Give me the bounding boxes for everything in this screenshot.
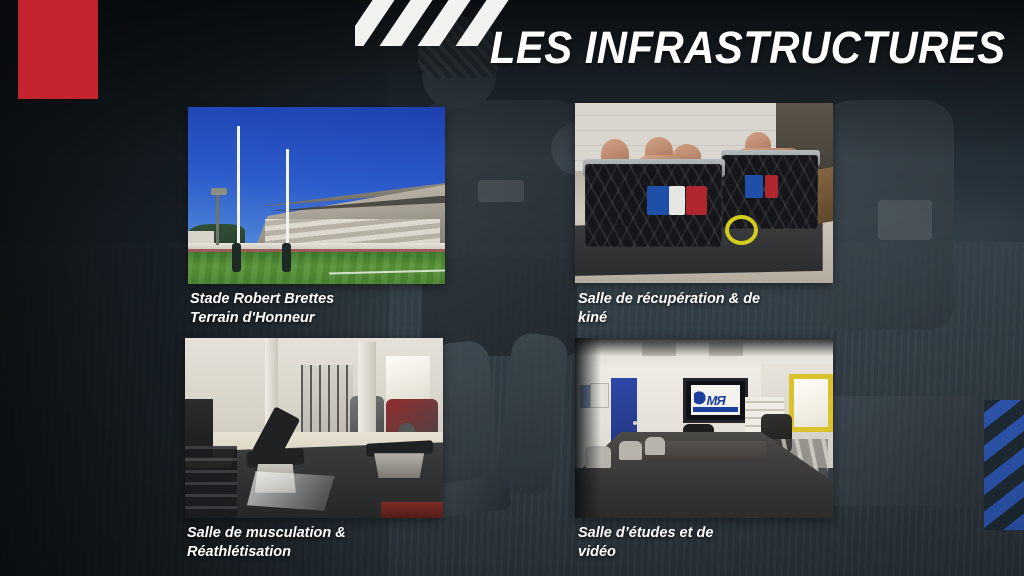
caption-line-2: vidéo: [578, 543, 793, 562]
caption-line-1: Salle de musculation &: [187, 524, 437, 543]
caption-video: Salle d’études et de vidéo: [578, 524, 793, 562]
card-gym: [185, 338, 443, 518]
video-room-photo: MЯ: [575, 338, 833, 518]
background-vignette: [0, 0, 1024, 576]
slide-title: LES INFRASTRUCTURES: [490, 22, 1006, 74]
caption-recovery: Salle de récupération & de kiné: [578, 290, 803, 328]
background-photo: [0, 0, 1024, 576]
club-logo: MЯ: [691, 385, 740, 415]
recovery-room-photo: [575, 103, 833, 283]
caption-line-1: Salle de récupération & de: [578, 290, 803, 309]
card-stadium: [188, 107, 445, 284]
card-recovery: [575, 103, 833, 283]
caption-line-2: Terrain d'Honneur: [190, 309, 440, 328]
weight-room-photo: [185, 338, 443, 518]
wall-screen: MЯ: [683, 378, 748, 423]
caption-line-1: Salle d’études et de: [578, 524, 793, 543]
card-video: MЯ: [575, 338, 833, 518]
caption-line-1: Stade Robert Brettes: [190, 290, 440, 309]
stadium-photo: [188, 107, 445, 284]
caption-stadium: Stade Robert Brettes Terrain d'Honneur: [190, 290, 440, 328]
caption-line-2: Réathlétisation: [187, 543, 437, 562]
caption-gym: Salle de musculation & Réathlétisation: [187, 524, 437, 562]
red-accent-block: [18, 0, 98, 99]
club-logo-text: MЯ: [706, 393, 724, 408]
caption-line-2: kiné: [578, 309, 803, 328]
presentation-slide: LES INFRASTRUCTURES Stade Robert Brettes…: [0, 0, 1024, 576]
